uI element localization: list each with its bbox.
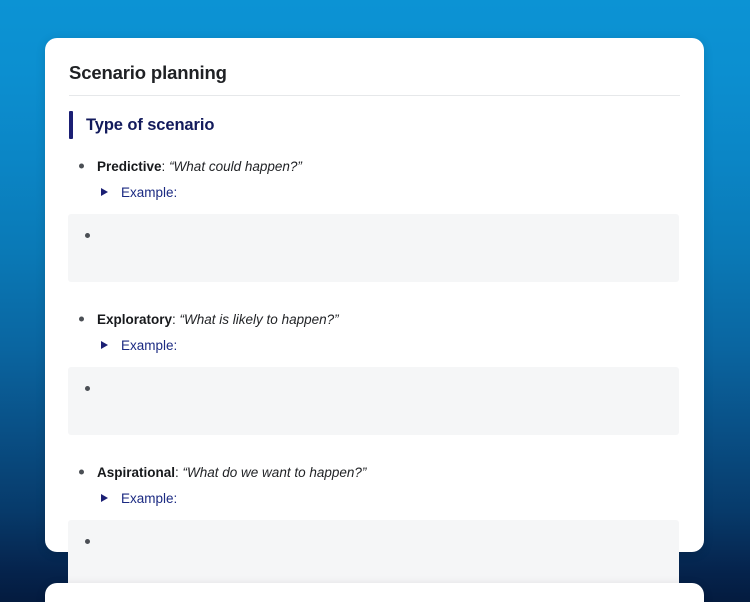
triangle-bullet-icon: [101, 341, 108, 349]
block-spacer: [45, 435, 704, 459]
example-row: Example:: [45, 332, 704, 358]
list-item-text: Predictive: “What could happen?”: [97, 159, 302, 174]
round-bullet-icon: [79, 164, 84, 169]
scenario-planning-card: Scenario planning Type of scenario Predi…: [45, 38, 704, 552]
example-label: Example:: [121, 185, 177, 200]
answer-input-area[interactable]: [68, 520, 679, 588]
answer-input-area[interactable]: [68, 367, 679, 435]
list-item: Exploratory: “What is likely to happen?”: [45, 306, 704, 332]
scenario-separator: :: [162, 159, 170, 174]
round-bullet-icon: [85, 539, 90, 544]
list-item-text: Aspirational: “What do we want to happen…: [97, 465, 366, 480]
page-root: Scenario planning Type of scenario Predi…: [0, 0, 750, 602]
scenario-type-label: Aspirational: [97, 465, 175, 480]
scenario-type-label: Predictive: [97, 159, 162, 174]
list-item-text: Exploratory: “What is likely to happen?”: [97, 312, 339, 327]
section-heading-label: Type of scenario: [86, 116, 214, 135]
example-label: Example:: [121, 338, 177, 353]
list-item: Predictive: “What could happen?”: [45, 153, 704, 179]
triangle-bullet-icon: [101, 494, 108, 502]
scenario-question: “What could happen?”: [169, 159, 302, 174]
heading-accent-bar: [69, 111, 73, 139]
scenario-question: “What is likely to happen?”: [180, 312, 339, 327]
scenario-block-aspirational: Aspirational: “What do we want to happen…: [45, 459, 704, 588]
triangle-bullet-icon: [101, 188, 108, 196]
answer-input-area[interactable]: [68, 214, 679, 282]
scenario-separator: :: [172, 312, 180, 327]
block-spacer: [45, 282, 704, 306]
title-divider: [69, 95, 680, 96]
scenario-block-predictive: Predictive: “What could happen?” Example…: [45, 153, 704, 282]
round-bullet-icon: [79, 470, 84, 475]
scenario-type-label: Exploratory: [97, 312, 172, 327]
round-bullet-icon: [85, 386, 90, 391]
list-item: Aspirational: “What do we want to happen…: [45, 459, 704, 485]
scenario-type-list: Predictive: “What could happen?” Example…: [45, 153, 704, 588]
section-heading: Type of scenario: [69, 110, 214, 140]
scenario-separator: :: [175, 465, 183, 480]
example-row: Example:: [45, 179, 704, 205]
example-label: Example:: [121, 491, 177, 506]
scenario-question: “What do we want to happen?”: [183, 465, 367, 480]
next-card: [45, 583, 704, 602]
page-title: Scenario planning: [69, 62, 227, 84]
round-bullet-icon: [85, 233, 90, 238]
round-bullet-icon: [79, 317, 84, 322]
scenario-block-exploratory: Exploratory: “What is likely to happen?”…: [45, 306, 704, 435]
example-row: Example:: [45, 485, 704, 511]
